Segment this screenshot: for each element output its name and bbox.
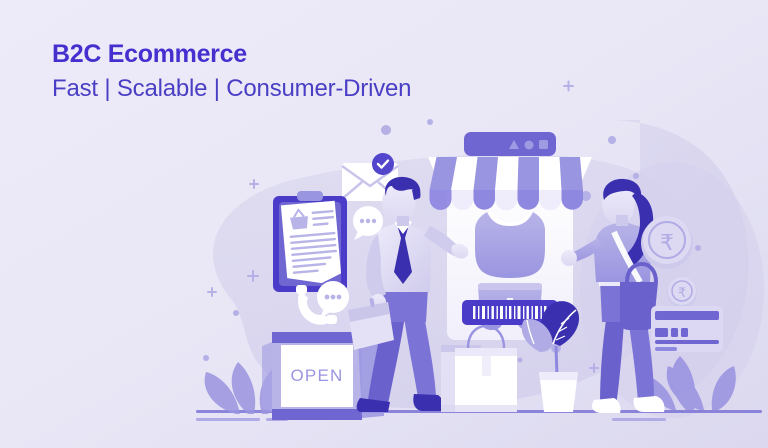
credit-card-icon: [651, 306, 723, 352]
clipboard-document-icon: [273, 191, 347, 292]
shoe-left-front: [413, 394, 444, 411]
rupee-coin-small-icon: ₹: [667, 277, 697, 308]
storefront-awning: [428, 157, 592, 210]
hand-shopper: [561, 250, 577, 266]
square-icon: [539, 140, 548, 149]
rupee-glyph: ₹: [660, 230, 674, 255]
chat-bubble-icon-2: [317, 281, 349, 318]
page-subtitle: Fast | Scalable | Consumer-Driven: [52, 75, 411, 103]
circle-icon: [525, 141, 534, 150]
b2c-ecommerce-banner: B2C Ecommerce Fast | Scalable | Consumer…: [0, 0, 768, 448]
shoe-right-back: [592, 398, 621, 413]
page-title: B2C Ecommerce: [52, 40, 411, 69]
open-sign-label: OPEN: [291, 366, 344, 385]
rupee-glyph-small: ₹: [678, 285, 686, 300]
shoe-right-front: [633, 396, 664, 412]
headline-group: B2C Ecommerce Fast | Scalable | Consumer…: [52, 40, 411, 102]
bag-tag: [482, 356, 491, 376]
